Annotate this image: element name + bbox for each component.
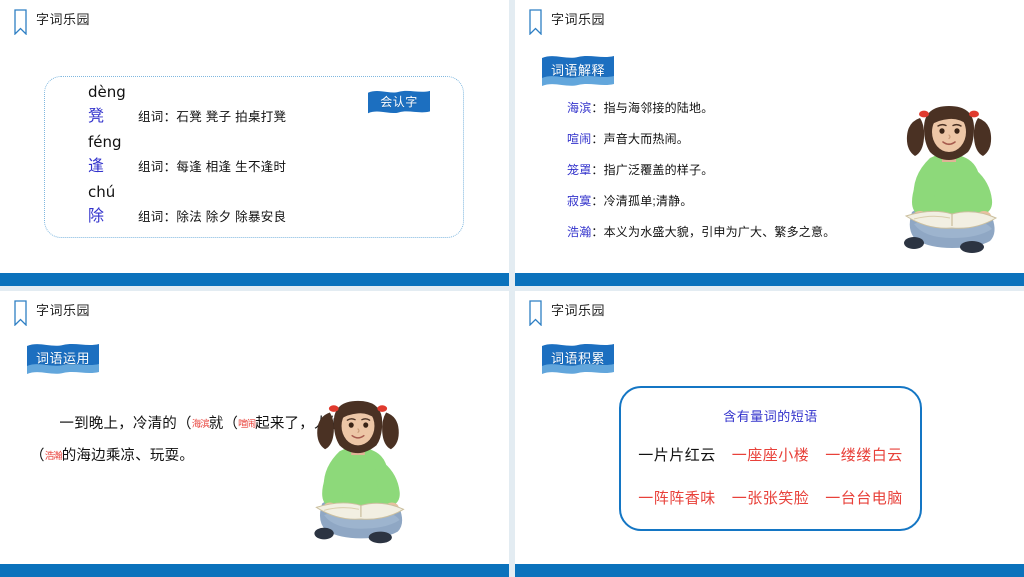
word-list: 组词：每逢 相逢 生不逢时	[138, 156, 286, 175]
slide-grid: 字词乐园 dèng 凳 组词：石凳 凳子 拍桌打凳 féng 逢 组词：每逢 相…	[0, 0, 1024, 577]
slide-3-title: 字词乐园	[36, 300, 90, 318]
slide-1-title: 字词乐园	[36, 9, 90, 27]
bookmark-icon	[529, 300, 542, 326]
measure-word-phrases-box: 含有量词的短语 一片片红云 一座座小楼 一缕缕白云 一阵阵香味 一张张笑脸 一台…	[619, 386, 922, 531]
slide-2: 字词乐园 词语解释 海滨：指与海邻接的陆地。 喧闹：声音大而热闹。 笼罩：指广泛…	[515, 0, 1024, 286]
phrase-item: 一阵阵香味	[638, 487, 716, 508]
pinyin-text: féng	[88, 134, 286, 151]
sentence-part-4: 的海边乘凉、玩耍。	[62, 448, 194, 464]
phrase-item: 一座座小楼	[732, 444, 810, 465]
character-entry: chú 除 组词：除法 除夕 除暴安良	[88, 184, 286, 234]
definition-row: 寂寞：冷清孤单;清静。	[567, 193, 897, 209]
slide-1: 字词乐园 dèng 凳 组词：石凳 凳子 拍桌打凳 féng 逢 组词：每逢 相…	[0, 0, 509, 286]
answer-blank-3: 浩瀚	[45, 451, 62, 462]
character-entry: féng 逢 组词：每逢 相逢 生不逢时	[88, 134, 286, 184]
hanzi-char: 凳	[88, 102, 138, 126]
definition-word: 喧闹	[567, 132, 591, 146]
slide-3: 字词乐园 词语运用 一到晚上，冷清的（海滨就（喧闹起来了，人们在（浩瀚的海边乘凉…	[0, 291, 509, 577]
slide-1-header: 字词乐园	[14, 9, 90, 35]
definition-word: 海滨	[567, 101, 591, 115]
answer-blank-1: 海滨	[192, 419, 209, 430]
banner-label: 词语解释	[542, 55, 614, 86]
slide-4: 字词乐园 词语积累 含有量词的短语 一片片红云 一座座小楼 一缕缕白云 一阵阵香…	[515, 291, 1024, 577]
girl-reading-photo	[295, 395, 421, 550]
phrase-item: 一张张笑脸	[732, 487, 810, 508]
definition-row: 笼罩：指广泛覆盖的样子。	[567, 162, 897, 178]
phrase-row-1: 一片片红云 一座座小楼 一缕缕白云	[621, 444, 920, 465]
definition-row: 海滨：指与海邻接的陆地。	[567, 100, 897, 116]
definition-list: 海滨：指与海邻接的陆地。 喧闹：声音大而热闹。 笼罩：指广泛覆盖的样子。 寂寞：…	[567, 100, 897, 255]
banner-recognize-characters: 会认字	[368, 89, 430, 117]
definition-meaning: 本义为水盛大貌，引申为广大、繁多之意。	[604, 225, 836, 239]
banner-label: 词语积累	[542, 343, 614, 374]
girl-reading-photo	[884, 100, 1014, 260]
definition-word: 浩瀚	[567, 225, 591, 239]
word-list: 组词：石凳 凳子 拍桌打凳	[138, 106, 286, 125]
phrase-row-2: 一阵阵香味 一张张笑脸 一台台电脑	[621, 487, 920, 508]
pinyin-text: dèng	[88, 84, 286, 101]
banner-label: 会认字	[368, 89, 430, 117]
slide-4-header: 字词乐园	[529, 300, 605, 326]
sentence-part-2: 就（	[209, 416, 238, 432]
banner-word-explanation: 词语解释	[542, 55, 614, 86]
slide-2-footer-bar	[515, 273, 1024, 286]
slide-2-header: 字词乐园	[529, 9, 605, 35]
definition-row: 浩瀚：本义为水盛大貌，引申为广大、繁多之意。	[567, 224, 897, 240]
sentence-part-1: 一到晚上，冷清的（	[30, 416, 192, 432]
girl-illustration	[295, 395, 421, 550]
definition-word: 笼罩	[567, 163, 591, 177]
word-list: 组词：除法 除夕 除暴安良	[138, 206, 286, 225]
answer-blank-2: 喧闹	[238, 419, 255, 430]
definition-word: 寂寞	[567, 194, 591, 208]
pinyin-text: chú	[88, 184, 286, 201]
banner-label: 词语运用	[27, 343, 99, 374]
slide-3-footer-bar	[0, 564, 509, 577]
definition-row: 喧闹：声音大而热闹。	[567, 131, 897, 147]
slide-1-footer-bar	[0, 273, 509, 286]
hanzi-char: 除	[88, 202, 138, 226]
bookmark-icon	[14, 300, 27, 326]
phrase-item: 一片片红云	[638, 444, 716, 465]
slide-4-title: 字词乐园	[551, 300, 605, 318]
character-list: dèng 凳 组词：石凳 凳子 拍桌打凳 féng 逢 组词：每逢 相逢 生不逢…	[88, 84, 286, 234]
slide-3-header: 字词乐园	[14, 300, 90, 326]
definition-meaning: 指广泛覆盖的样子。	[604, 163, 714, 177]
bookmark-icon	[14, 9, 27, 35]
hanzi-char: 逢	[88, 152, 138, 176]
character-entry: dèng 凳 组词：石凳 凳子 拍桌打凳	[88, 84, 286, 134]
slide-2-title: 字词乐园	[551, 9, 605, 27]
phrase-item: 一缕缕白云	[825, 444, 903, 465]
definition-meaning: 冷清孤单;清静。	[604, 194, 693, 208]
banner-word-usage: 词语运用	[27, 343, 99, 374]
phrase-item: 一台台电脑	[825, 487, 903, 508]
banner-word-accumulation: 词语积累	[542, 343, 614, 374]
slide-4-footer-bar	[515, 564, 1024, 577]
girl-illustration	[884, 100, 1014, 260]
definition-meaning: 声音大而热闹。	[604, 132, 689, 146]
bookmark-icon	[529, 9, 542, 35]
phrases-box-title: 含有量词的短语	[621, 406, 920, 425]
definition-meaning: 指与海邻接的陆地。	[604, 101, 714, 115]
